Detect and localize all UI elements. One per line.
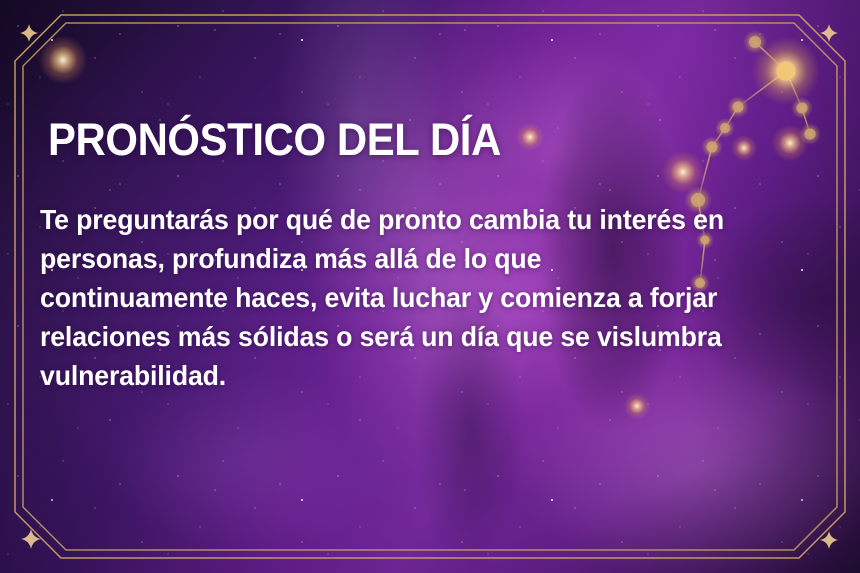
horoscope-card: PRONÓSTICO DEL DÍA Te preguntarás por qu… [0,0,860,573]
forecast-line: continuamente haces, evita luchar y comi… [40,278,806,317]
forecast-line: Te preguntarás por qué de pronto cambia … [40,200,806,239]
card-content: PRONÓSTICO DEL DÍA Te preguntarás por qu… [0,0,860,573]
forecast-line: personas, profundiza más allá de lo que [40,239,806,278]
forecast-body-text: Te preguntarás por qué de pronto cambia … [40,200,806,395]
page-title: PRONÓSTICO DEL DÍA [48,116,501,165]
forecast-line: vulnerabilidad. [40,356,806,395]
forecast-line: relaciones más sólidas o será un día que… [40,317,806,356]
